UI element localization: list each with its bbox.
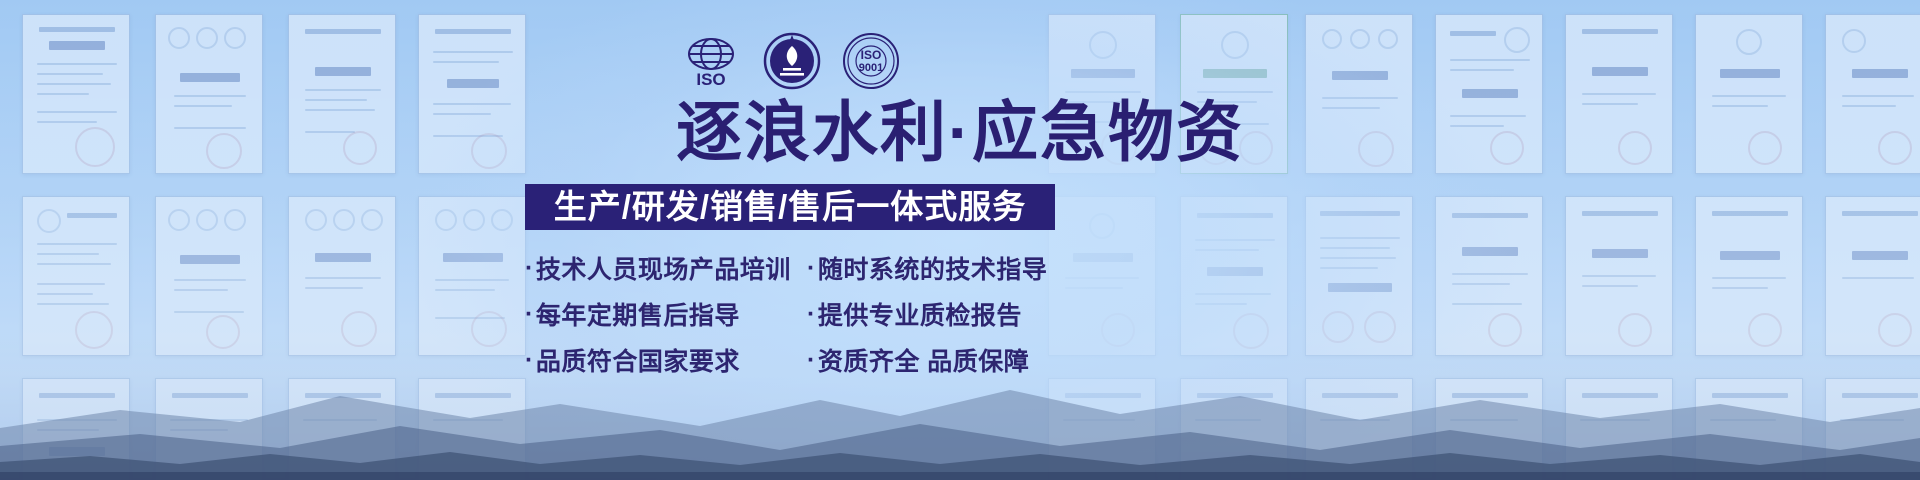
- feature-label: 随时系统的技术指导: [818, 250, 1048, 286]
- feature-item: · 技术人员现场产品培训: [525, 250, 807, 286]
- banner-subtitle-bar: 生产/研发/销售/售后一体式服务: [525, 184, 1055, 230]
- bullet-dot-icon: ·: [807, 302, 816, 327]
- bullet-dot-icon: ·: [525, 348, 534, 373]
- banner-content: ISO ISO 9001 逐浪水利·应急物资 生产/研发/销售/售: [0, 0, 1920, 480]
- quality-seal-badge-icon: [763, 32, 821, 90]
- feature-item: · 每年定期售后指导: [525, 296, 807, 332]
- svg-text:ISO: ISO: [696, 70, 725, 89]
- feature-list: · 技术人员现场产品培训 · 随时系统的技术指导 · 每年定期售后指导 · 提供…: [525, 245, 1065, 383]
- bullet-dot-icon: ·: [525, 302, 534, 327]
- svg-text:9001: 9001: [859, 62, 883, 74]
- iso-badge-icon: ISO: [680, 30, 742, 92]
- feature-label: 提供专业质检报告: [818, 296, 1022, 332]
- feature-item: · 提供专业质检报告: [807, 296, 1065, 332]
- iso-9001-badge-icon: ISO 9001: [842, 32, 900, 90]
- banner-subtitle-text: 生产/研发/销售/售后一体式服务: [554, 190, 1027, 224]
- bullet-dot-icon: ·: [525, 256, 534, 281]
- feature-label: 品质符合国家要求: [536, 342, 740, 378]
- feature-item: · 随时系统的技术指导: [807, 250, 1065, 286]
- banner-title: 逐浪水利·应急物资: [0, 96, 1920, 168]
- bullet-dot-icon: ·: [807, 348, 816, 373]
- feature-item: · 资质齐全 品质保障: [807, 342, 1065, 378]
- svg-text:ISO: ISO: [861, 48, 882, 62]
- feature-label: 资质齐全 品质保障: [818, 342, 1029, 378]
- feature-label: 技术人员现场产品培训: [536, 250, 791, 286]
- feature-row: · 每年定期售后指导 · 提供专业质检报告: [525, 291, 1065, 337]
- feature-row: · 品质符合国家要求 · 资质齐全 品质保障: [525, 337, 1065, 383]
- promo-banner: ISO ISO 9001 逐浪水利·应急物资 生产/研发/销售/售: [0, 0, 1920, 480]
- bullet-dot-icon: ·: [807, 256, 816, 281]
- feature-label: 每年定期售后指导: [536, 296, 740, 332]
- feature-item: · 品质符合国家要求: [525, 342, 807, 378]
- certification-badges-row: ISO ISO 9001: [680, 30, 900, 92]
- feature-row: · 技术人员现场产品培训 · 随时系统的技术指导: [525, 245, 1065, 291]
